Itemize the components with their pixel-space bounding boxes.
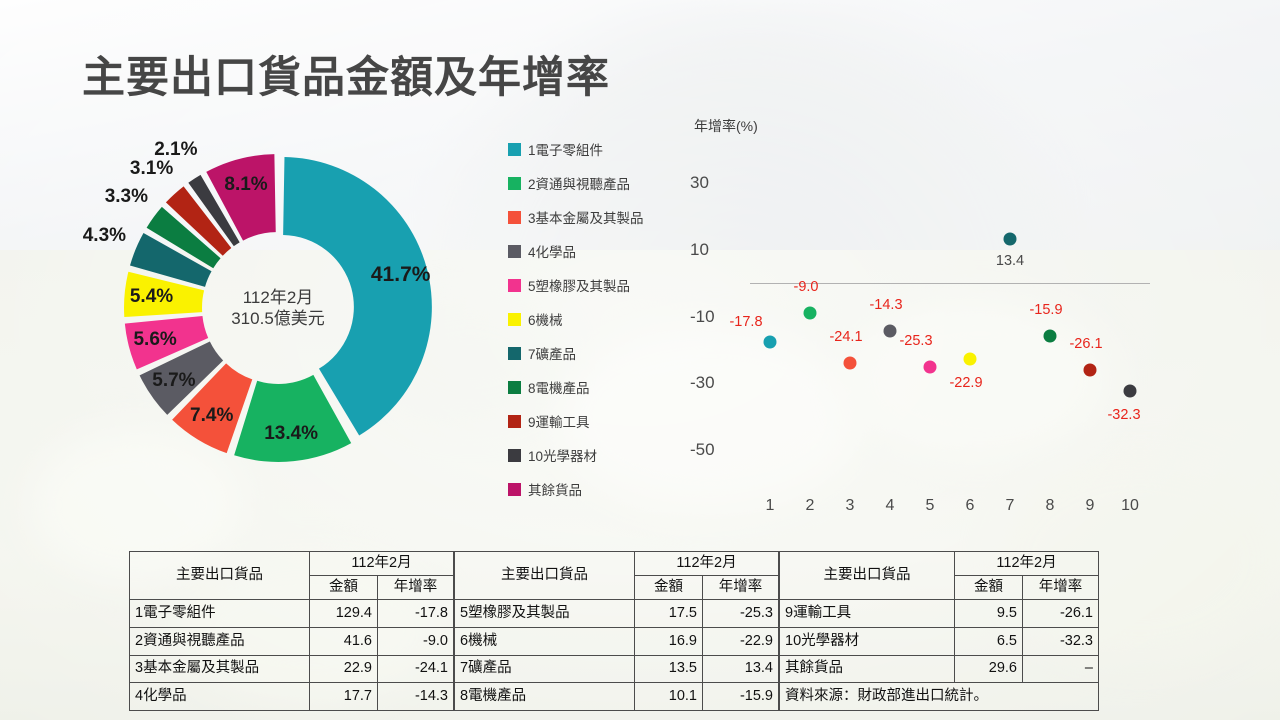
- table-body-1: 1電子零組件129.4-17.82資通與視聽產品41.6-9.03基本金屬及其製…: [130, 600, 454, 711]
- legend-item-label: 6機械: [528, 309, 563, 329]
- table-body-2: 5塑橡膠及其製品17.5-25.36機械16.9-22.97礦產品13.513.…: [455, 600, 779, 711]
- scatter-point[interactable]: [1044, 330, 1057, 343]
- scatter-point[interactable]: [1004, 232, 1017, 245]
- donut-slice-label: 5.6%: [133, 329, 176, 351]
- table-row: 10光學器材6.5-32.3: [780, 627, 1099, 655]
- legend-item-7[interactable]: 7礦產品: [508, 336, 644, 370]
- scatter-point[interactable]: [1124, 384, 1137, 397]
- legend-item-label: 5塑橡膠及其製品: [528, 275, 630, 295]
- legend-item-label: 4化學品: [528, 241, 576, 261]
- table-header-row-1: 主要出口貨品 112年2月: [455, 552, 779, 576]
- table-row: 6機械16.9-22.9: [455, 627, 779, 655]
- scatter-point[interactable]: [804, 307, 817, 320]
- cell-rate: –: [1023, 655, 1099, 683]
- cell-rate: -15.9: [703, 683, 779, 711]
- table-block-1: 主要出口貨品 112年2月 金額 年增率 1電子零組件129.4-17.82資通…: [129, 551, 454, 711]
- scatter-point[interactable]: [924, 361, 937, 374]
- legend-item-label: 8電機產品: [528, 377, 590, 397]
- cell-amount: 129.4: [310, 600, 378, 628]
- scatter-point-label: -24.1: [829, 329, 862, 345]
- table-row: 9運輸工具9.5-26.1: [780, 600, 1099, 628]
- chart-legend: 1電子零組件2資通與視聽產品3基本金屬及其製品4化學品5塑橡膠及其製品6機械7礦…: [508, 132, 644, 506]
- scatter-point-label: -22.9: [949, 375, 982, 391]
- legend-item-label: 3基本金屬及其製品: [528, 207, 644, 227]
- cell-rate: -25.3: [703, 600, 779, 628]
- table-row: 7礦產品13.513.4: [455, 655, 779, 683]
- cell-amount: 22.9: [310, 655, 378, 683]
- scatter-point[interactable]: [964, 353, 977, 366]
- scatter-point-label: -9.0: [794, 279, 819, 295]
- donut-center-line2: 310.5億美元: [231, 308, 325, 329]
- legend-item-label: 7礦產品: [528, 343, 576, 363]
- cell-rate: -14.3: [378, 683, 454, 711]
- cell-item: 10光學器材: [780, 627, 955, 655]
- cell-item: 1電子零組件: [130, 600, 310, 628]
- col-header-amount: 金額: [955, 576, 1023, 600]
- donut-slice[interactable]: [206, 154, 275, 240]
- legend-item-label: 9運輸工具: [528, 411, 590, 431]
- scatter-x-tick: 2: [806, 497, 815, 515]
- scatter-point-label: -32.3: [1107, 407, 1140, 423]
- table-row: 1電子零組件129.4-17.8: [130, 600, 454, 628]
- donut-slice-label: 3.3%: [105, 186, 148, 208]
- donut-chart: 112年2月 310.5億美元 41.7%13.4%7.4%5.7%5.6%5.…: [68, 108, 488, 508]
- scatter-x-tick: 10: [1121, 497, 1139, 515]
- cell-item: 其餘貨品: [780, 655, 955, 683]
- scatter-point-label: -26.1: [1069, 336, 1102, 352]
- cell-amount: 29.6: [955, 655, 1023, 683]
- scatter-point-label: 13.4: [996, 253, 1024, 269]
- legend-item-6[interactable]: 6機械: [508, 302, 644, 336]
- scatter-point[interactable]: [764, 336, 777, 349]
- col-header-period: 112年2月: [955, 552, 1099, 576]
- scatter-point-label: -25.3: [899, 333, 932, 349]
- col-header-period: 112年2月: [635, 552, 779, 576]
- cell-amount: 17.5: [635, 600, 703, 628]
- donut-center-line1: 112年2月: [231, 287, 325, 308]
- legend-swatch-icon: [508, 415, 521, 428]
- scatter-x-tick: 3: [846, 497, 855, 515]
- donut-slice-label: 41.7%: [371, 263, 431, 287]
- legend-swatch-icon: [508, 483, 521, 496]
- cell-item: 8電機產品: [455, 683, 635, 711]
- donut-slice-label: 7.4%: [190, 405, 233, 427]
- scatter-x-tick: 7: [1006, 497, 1015, 515]
- legend-item-5[interactable]: 5塑橡膠及其製品: [508, 268, 644, 302]
- legend-item-label: 其餘貨品: [528, 479, 582, 499]
- col-header-item: 主要出口貨品: [130, 552, 310, 600]
- cell-item: 5塑橡膠及其製品: [455, 600, 635, 628]
- table-body-3: 9運輸工具9.5-26.110光學器材6.5-32.3其餘貨品29.6–資料來源…: [780, 600, 1099, 711]
- donut-slice-label: 2.1%: [154, 139, 197, 161]
- legend-swatch-icon: [508, 449, 521, 462]
- legend-swatch-icon: [508, 347, 521, 360]
- cell-rate: -24.1: [378, 655, 454, 683]
- cell-amount: 16.9: [635, 627, 703, 655]
- col-header-item: 主要出口貨品: [780, 552, 955, 600]
- cell-amount: 41.6: [310, 627, 378, 655]
- legend-item-1[interactable]: 1電子零組件: [508, 132, 644, 166]
- data-table: 主要出口貨品 112年2月 金額 年增率 1電子零組件129.4-17.82資通…: [129, 551, 1160, 711]
- col-header-amount: 金額: [310, 576, 378, 600]
- scatter-point[interactable]: [844, 357, 857, 370]
- scatter-point-label: -17.8: [729, 314, 762, 330]
- legend-item-2[interactable]: 2資通與視聽產品: [508, 166, 644, 200]
- scatter-x-tick: 6: [966, 497, 975, 515]
- table-header-row-1: 主要出口貨品 112年2月: [130, 552, 454, 576]
- scatter-x-tick: 9: [1086, 497, 1095, 515]
- source-note: 資料來源：財政部進出口統計。: [780, 683, 1099, 711]
- scatter-y-tick: -50: [690, 440, 715, 460]
- donut-slice-label: 8.1%: [224, 174, 267, 196]
- legend-swatch-icon: [508, 245, 521, 258]
- donut-center-label: 112年2月 310.5億美元: [231, 287, 325, 330]
- table-row: 4化學品17.7-14.3: [130, 683, 454, 711]
- scatter-x-tick: 5: [926, 497, 935, 515]
- legend-swatch-icon: [508, 313, 521, 326]
- legend-swatch-icon: [508, 279, 521, 292]
- table-row: 3基本金屬及其製品22.9-24.1: [130, 655, 454, 683]
- col-header-rate: 年增率: [1023, 576, 1099, 600]
- cell-amount: 17.7: [310, 683, 378, 711]
- col-header-period: 112年2月: [310, 552, 454, 576]
- legend-item-4[interactable]: 4化學品: [508, 234, 644, 268]
- legend-swatch-icon: [508, 177, 521, 190]
- table-row: 其餘貨品29.6–: [780, 655, 1099, 683]
- table-row: 5塑橡膠及其製品17.5-25.3: [455, 600, 779, 628]
- legend-item-10[interactable]: 10光學器材: [508, 438, 644, 472]
- cell-item: 4化學品: [130, 683, 310, 711]
- scatter-chart: 年增率(%) 3010-10-30-5012345678910-17.8-9.0…: [672, 108, 1172, 533]
- cell-item: 7礦產品: [455, 655, 635, 683]
- cell-rate: -9.0: [378, 627, 454, 655]
- legend-item-label: 1電子零組件: [528, 139, 603, 159]
- scatter-point[interactable]: [884, 324, 897, 337]
- legend-item-11[interactable]: 其餘貨品: [508, 472, 644, 506]
- legend-item-9[interactable]: 9運輸工具: [508, 404, 644, 438]
- legend-item-label: 10光學器材: [528, 445, 597, 465]
- cell-item: 6機械: [455, 627, 635, 655]
- cell-item: 3基本金屬及其製品: [130, 655, 310, 683]
- scatter-x-tick: 8: [1046, 497, 1055, 515]
- legend-swatch-icon: [508, 143, 521, 156]
- col-header-rate: 年增率: [378, 576, 454, 600]
- col-header-rate: 年增率: [703, 576, 779, 600]
- table-row: 8電機產品10.1-15.9: [455, 683, 779, 711]
- cell-rate: -32.3: [1023, 627, 1099, 655]
- cell-rate: -22.9: [703, 627, 779, 655]
- table-header-row-1: 主要出口貨品 112年2月: [780, 552, 1099, 576]
- cell-item: 2資通與視聽產品: [130, 627, 310, 655]
- scatter-y-tick: 30: [690, 173, 709, 193]
- col-header-item: 主要出口貨品: [455, 552, 635, 600]
- scatter-point-label: -14.3: [869, 297, 902, 313]
- scatter-y-tick: -10: [690, 307, 715, 327]
- legend-item-label: 2資通與視聽產品: [528, 173, 630, 193]
- donut-slice-label: 13.4%: [264, 423, 318, 445]
- scatter-point-label: -15.9: [1029, 302, 1062, 318]
- cell-item: 9運輸工具: [780, 600, 955, 628]
- donut-slice-label: 5.4%: [130, 286, 173, 308]
- scatter-axis-title: 年增率(%): [694, 116, 758, 136]
- table-block-3: 主要出口貨品 112年2月 金額 年增率 9運輸工具9.5-26.110光學器材…: [779, 551, 1099, 711]
- cell-rate: -17.8: [378, 600, 454, 628]
- page-title: 主要出口貨品金額及年增率: [82, 43, 610, 105]
- col-header-amount: 金額: [635, 576, 703, 600]
- table-source-row: 資料來源：財政部進出口統計。: [780, 683, 1099, 711]
- scatter-y-tick: -30: [690, 373, 715, 393]
- scatter-y-tick: 10: [690, 240, 709, 260]
- donut-slice-label: 5.7%: [152, 370, 195, 392]
- cell-amount: 6.5: [955, 627, 1023, 655]
- donut-slice-label: 4.3%: [83, 225, 126, 247]
- legend-swatch-icon: [508, 211, 521, 224]
- cell-amount: 13.5: [635, 655, 703, 683]
- scatter-x-tick: 1: [766, 497, 775, 515]
- legend-swatch-icon: [508, 381, 521, 394]
- table-row: 2資通與視聽產品41.6-9.0: [130, 627, 454, 655]
- cell-rate: -26.1: [1023, 600, 1099, 628]
- cell-amount: 9.5: [955, 600, 1023, 628]
- scatter-point[interactable]: [1084, 364, 1097, 377]
- cell-rate: 13.4: [703, 655, 779, 683]
- table-block-2: 主要出口貨品 112年2月 金額 年增率 5塑橡膠及其製品17.5-25.36機…: [454, 551, 779, 711]
- scatter-x-tick: 4: [886, 497, 895, 515]
- legend-item-3[interactable]: 3基本金屬及其製品: [508, 200, 644, 234]
- cell-amount: 10.1: [635, 683, 703, 711]
- legend-item-8[interactable]: 8電機產品: [508, 370, 644, 404]
